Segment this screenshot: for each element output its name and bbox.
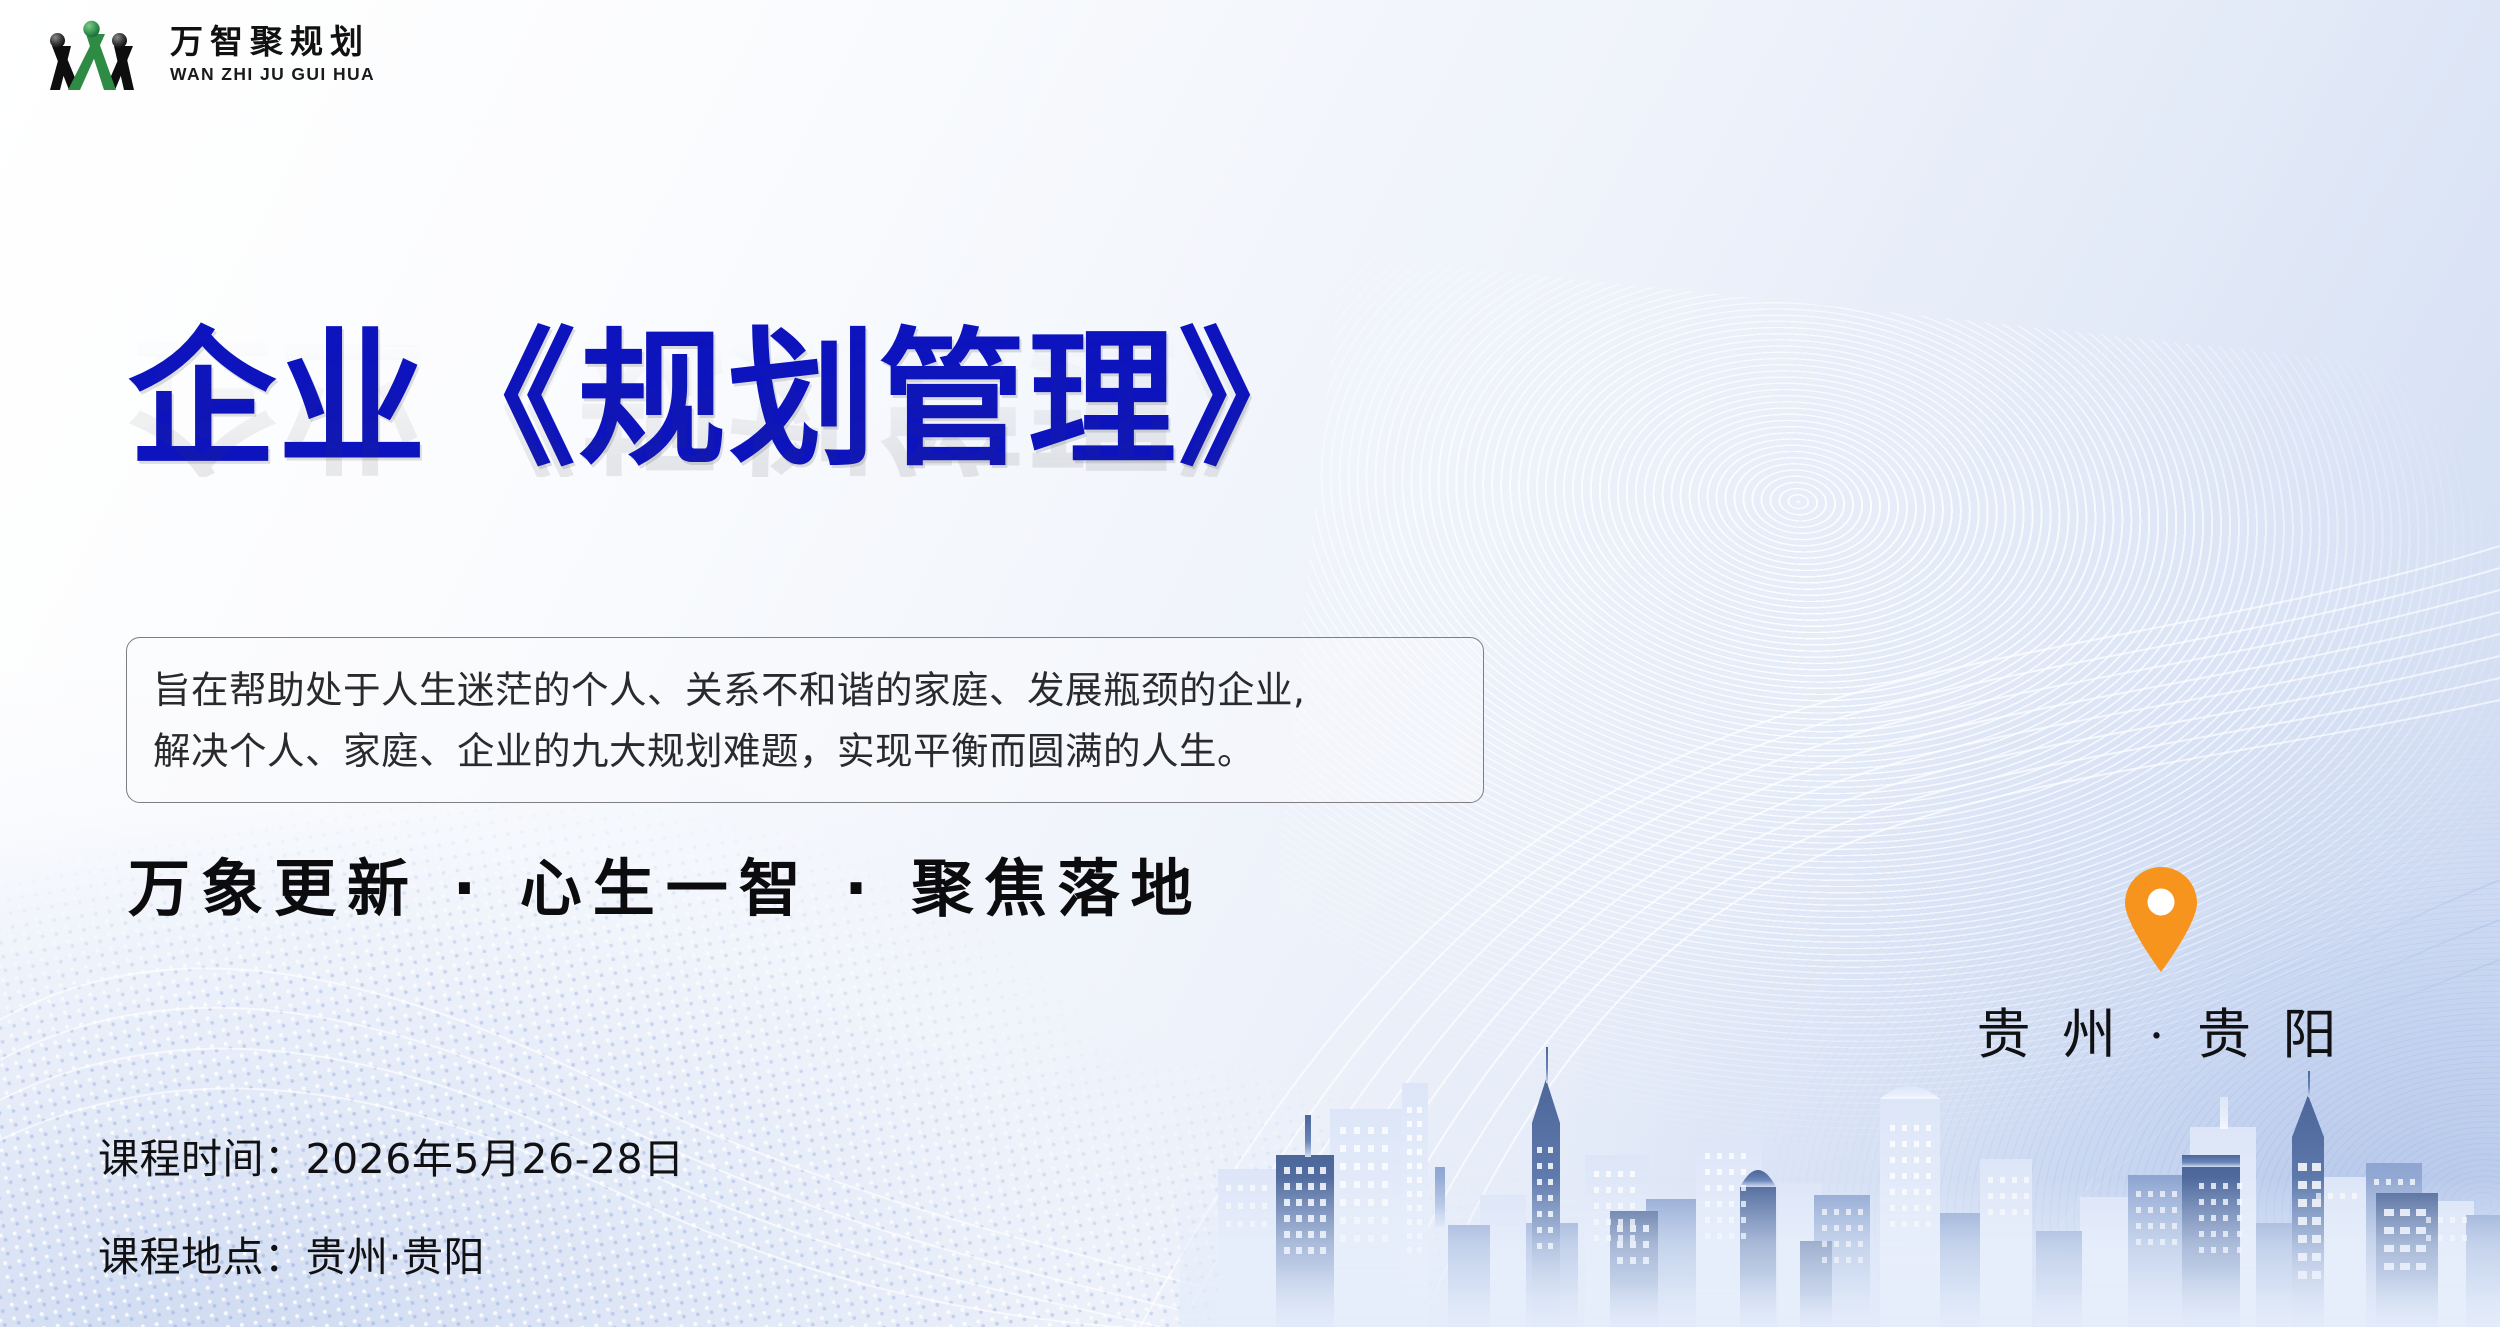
brand-name-en: WAN ZHI JU GUI HUA (170, 66, 375, 84)
brand-logo-text: 万智聚规划 WAN ZHI JU GUI HUA (170, 27, 375, 84)
hero-description-line-1: 旨在帮助处于人生迷茫的个人、关系不和谐的家庭、发展瓶颈的企业, (153, 660, 1457, 721)
hero-title-block: 企业《规划管理》 企业《规划管理》 (128, 325, 1548, 476)
brand-name-cn: 万智聚规划 (170, 27, 375, 60)
map-pin-icon (2118, 862, 2204, 974)
location-label: 贵 州 · 贵 阳 (1966, 990, 2356, 1069)
course-info-block: 课程时间：2026年5月26-28日 课程地点：贵州·贵阳 (98, 1125, 685, 1283)
poster-canvas: 万智聚规划 WAN ZHI JU GUI HUA 企业《规划管理》 企业《规划管… (0, 0, 2500, 1327)
location-block: 贵 州 · 贵 阳 (1966, 862, 2356, 1069)
hero-slogan: 万象更新 · 心生一智 · 聚焦落地 (128, 838, 1203, 928)
hero-description-line-2: 解决个人、家庭、企业的九大规划难题，实现平衡而圆满的人生。 (153, 721, 1457, 782)
hero-description-box: 旨在帮助处于人生迷茫的个人、关系不和谐的家庭、发展瓶颈的企业, 解决个人、家庭、… (126, 637, 1484, 803)
course-venue: 课程地点：贵州·贵阳 (98, 1223, 685, 1283)
three-people-logo-icon (32, 16, 152, 94)
brand-logo[interactable]: 万智聚规划 WAN ZHI JU GUI HUA (32, 16, 375, 94)
page-title: 企业《规划管理》 (128, 325, 1548, 476)
course-date: 课程时间：2026年5月26-28日 (98, 1125, 685, 1185)
